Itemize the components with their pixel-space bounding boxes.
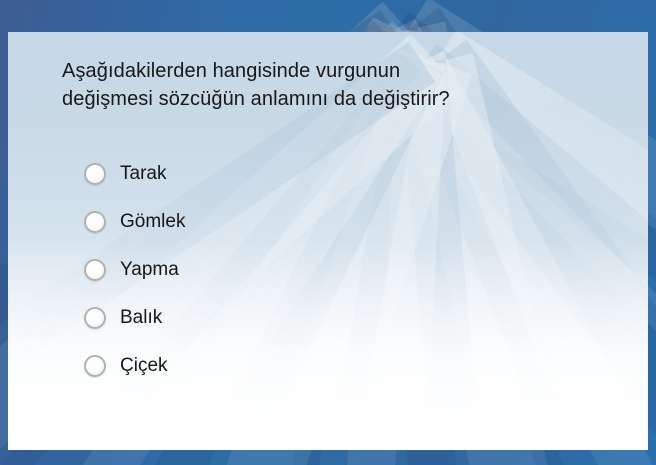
slide-background: Aşağıdakilerden hangisinde vurgunun deği…: [0, 0, 656, 465]
question-line-2: değişmesi sözcüğün anlamını da değiştiri…: [62, 85, 582, 113]
answer-option-label: Tarak: [120, 163, 166, 185]
answer-option-label: Gömlek: [120, 211, 185, 233]
radio-button-icon[interactable]: [84, 307, 106, 329]
answer-option-3[interactable]: Yapma: [84, 253, 504, 287]
question-card: Aşağıdakilerden hangisinde vurgunun deği…: [8, 32, 648, 450]
answer-option-label: Çiçek: [120, 355, 168, 377]
radio-button-icon[interactable]: [84, 259, 106, 281]
radio-button-icon[interactable]: [84, 211, 106, 233]
answer-options-list: Tarak Gömlek Yapma Balık Çiçek: [84, 157, 504, 397]
radio-button-icon[interactable]: [84, 355, 106, 377]
question-line-1: Aşağıdakilerden hangisinde vurgunun: [62, 57, 582, 85]
answer-option-2[interactable]: Gömlek: [84, 205, 504, 239]
answer-option-5[interactable]: Çiçek: [84, 349, 504, 383]
radio-button-icon[interactable]: [84, 163, 106, 185]
answer-option-label: Balık: [120, 307, 162, 329]
answer-option-1[interactable]: Tarak: [84, 157, 504, 191]
answer-option-label: Yapma: [120, 259, 179, 281]
answer-option-4[interactable]: Balık: [84, 301, 504, 335]
question-text: Aşağıdakilerden hangisinde vurgunun deği…: [62, 57, 582, 113]
